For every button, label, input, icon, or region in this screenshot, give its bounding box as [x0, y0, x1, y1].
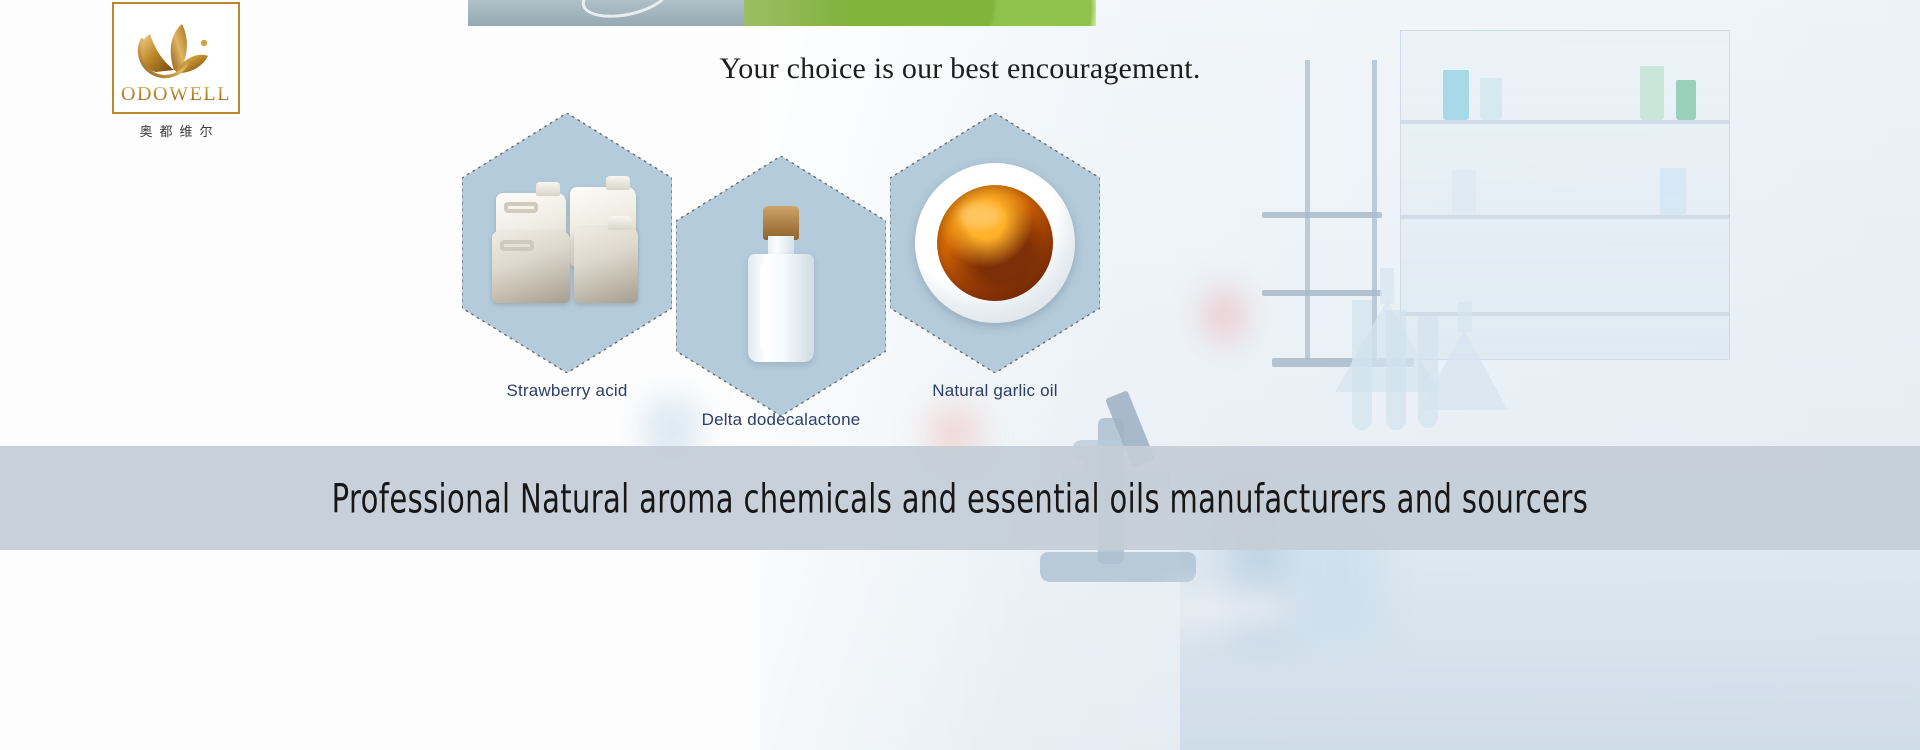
product-tile-strawberry-acid[interactable]: Strawberry acid [462, 113, 672, 373]
amber-oil-dish-photo [915, 163, 1075, 323]
product-label: Strawberry acid [462, 381, 672, 401]
can-cap [536, 182, 560, 196]
bottle-body [748, 254, 814, 362]
hexagon-shape [676, 156, 886, 416]
hexagon-shape [890, 113, 1100, 373]
can-cap [608, 216, 632, 230]
product-tile-natural-garlic-oil[interactable]: Natural garlic oil [890, 113, 1100, 373]
can-handle [500, 240, 534, 251]
hexagon-shape [462, 113, 672, 373]
hero-banner: ODOWELL 奥都维尔 Your choice is our best enc… [0, 0, 1920, 750]
bottle-highlight [760, 264, 769, 350]
marketing-banner: Professional Natural aroma chemicals and… [0, 446, 1920, 550]
jerry-can [574, 227, 638, 303]
jerry-can [492, 231, 570, 303]
can-handle [504, 202, 538, 213]
product-tile-delta-dodecalactone[interactable]: Delta dodecalactone [676, 156, 886, 416]
product-label: Delta dodecalactone [676, 410, 886, 430]
product-label: Natural garlic oil [890, 381, 1100, 401]
oil-highlight [959, 203, 1001, 229]
bottle-cork [763, 206, 799, 240]
can-cap [606, 176, 630, 190]
marketing-banner-text: Professional Natural aroma chemicals and… [332, 474, 1589, 522]
white-jerry-cans-photo [492, 183, 642, 303]
microscope-slide [1168, 592, 1288, 626]
amber-oil [937, 185, 1053, 301]
clear-corked-bottle-photo [744, 206, 818, 366]
product-hexagon-row: Strawberry acid Delta dodecalactone [0, 0, 1920, 480]
